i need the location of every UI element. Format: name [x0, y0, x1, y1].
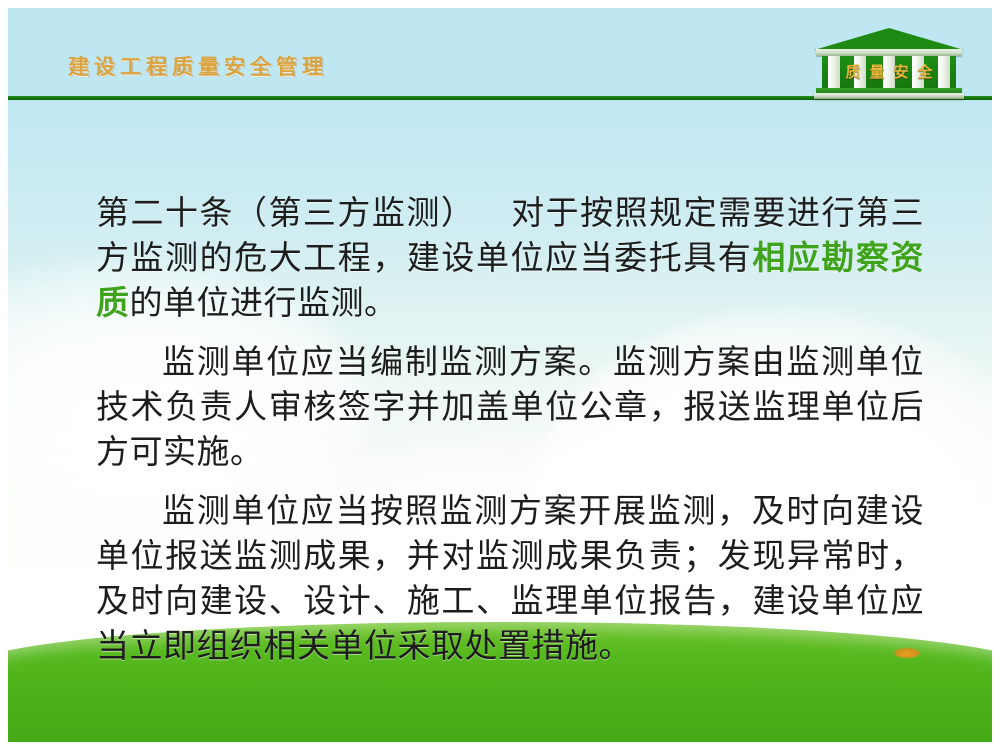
- slide-root: 建设工程质量安全管理 质量安全 第二十条（第三方监测） 对于按照规定需要进行第三…: [0, 0, 1000, 750]
- temple-architrave-icon: [816, 49, 962, 56]
- slide-body: 第二十条（第三方监测） 对于按照规定需要进行第三方监测的危大工程，建设单位应当委…: [96, 192, 924, 684]
- slide-header: 建设工程质量安全管理 质量安全: [8, 8, 992, 108]
- temple-pediment-icon: [814, 28, 964, 50]
- paragraph-article-20: 第二十条（第三方监测） 对于按照规定需要进行第三方监测的危大工程，建设单位应当委…: [96, 192, 924, 327]
- paragraph-segment: 的单位进行监测。: [130, 286, 398, 322]
- logo-label: 质量安全: [814, 61, 964, 82]
- paragraph-monitoring-plan: 监测单位应当编制监测方案。监测方案由监测单位技术负责人审核签字并加盖单位公章，报…: [96, 341, 924, 476]
- paragraph-segment: 第二十条（第三方监测）: [96, 196, 475, 232]
- temple-base-icon: [814, 93, 964, 99]
- quality-safety-temple-icon: 质量安全: [814, 28, 964, 100]
- slide-canvas: 建设工程质量安全管理 质量安全 第二十条（第三方监测） 对于按照规定需要进行第三…: [8, 8, 992, 742]
- page-title: 建设工程质量安全管理: [68, 51, 328, 81]
- paragraph-monitoring-execution: 监测单位应当按照监测方案开展监测，及时向建设单位报送监测成果，并对监测成果负责；…: [96, 490, 924, 670]
